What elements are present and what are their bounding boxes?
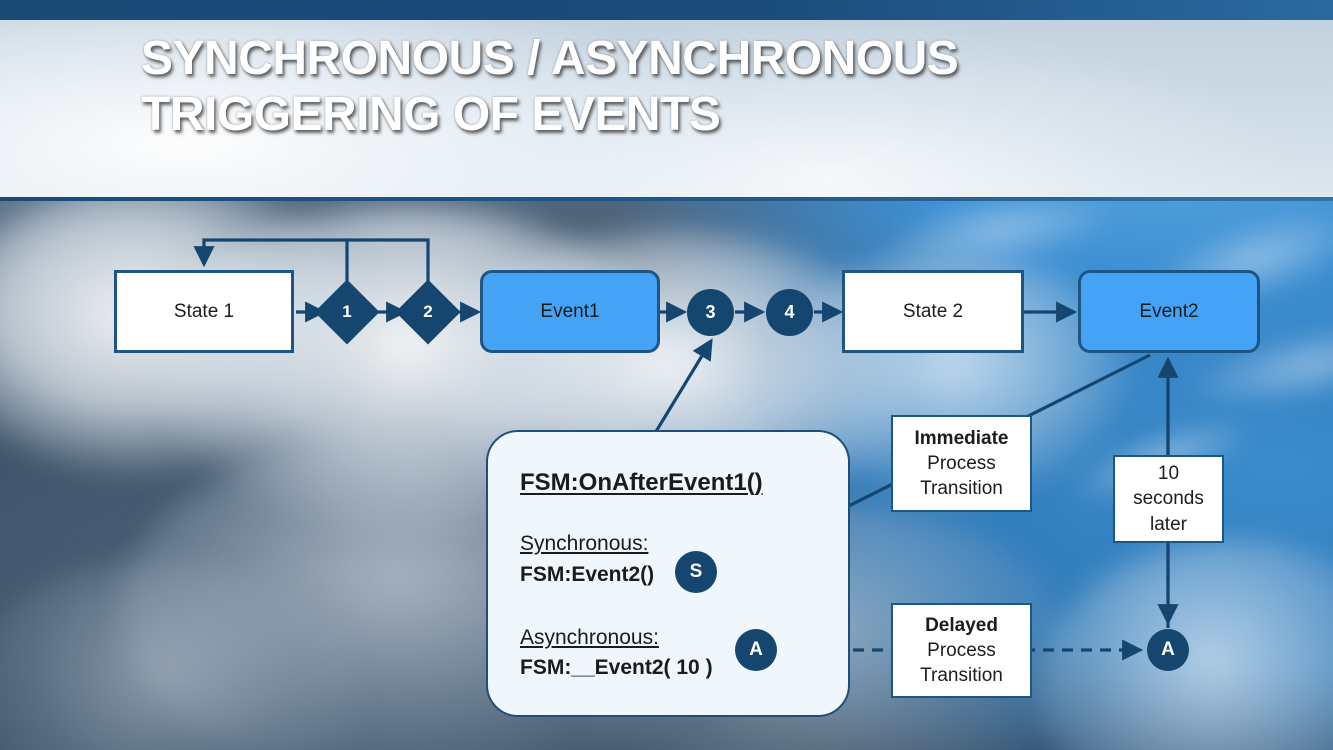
node-step-1[interactable]: 1 <box>314 279 379 344</box>
note-immediate-process-transition[interactable]: Immediate Process Transition <box>891 415 1032 512</box>
top-accent-band <box>0 0 1333 20</box>
node-label: 1 <box>324 289 370 335</box>
marker-label: A <box>1161 639 1175 661</box>
slide-canvas: SYNCHRONOUS / ASYNCHRONOUS TRIGGERING OF… <box>0 0 1333 750</box>
node-label: 2 <box>405 289 451 335</box>
note-line: 10 <box>1158 461 1179 486</box>
callout-async-code: FSM:__Event2( 10 ) <box>520 656 713 680</box>
note-line: Transition <box>920 476 1003 501</box>
marker-label: A <box>749 639 763 661</box>
node-label: Event2 <box>1139 301 1198 323</box>
callout-header: FSM:OnAfterEvent1() <box>520 469 763 497</box>
node-step-4[interactable]: 4 <box>766 289 813 336</box>
marker-sync-s[interactable]: S <box>675 551 717 593</box>
title-line-1: SYNCHRONOUS / ASYNCHRONOUS <box>141 31 1141 87</box>
note-line: Delayed <box>925 613 998 638</box>
note-line: Process <box>927 638 996 663</box>
node-step-2[interactable]: 2 <box>395 279 460 344</box>
node-label: 4 <box>784 302 794 323</box>
note-line: Process <box>927 451 996 476</box>
node-state-1[interactable]: State 1 <box>114 270 294 353</box>
bottom-accent-band <box>0 197 1333 201</box>
note-timer-10-seconds-later[interactable]: 10 seconds later <box>1113 455 1224 543</box>
node-label: Event1 <box>540 301 599 323</box>
callout-async-label: Asynchronous: <box>520 626 659 650</box>
note-line: Immediate <box>915 426 1009 451</box>
note-delayed-process-transition[interactable]: Delayed Process Transition <box>891 603 1032 698</box>
marker-label: S <box>690 561 703 583</box>
node-event-1[interactable]: Event1 <box>480 270 660 353</box>
note-line: later <box>1150 512 1187 537</box>
node-label: State 1 <box>174 301 234 323</box>
callout-fsm-onafterevent1[interactable]: FSM:OnAfterEvent1() Synchronous: FSM:Eve… <box>486 430 850 717</box>
page-title: SYNCHRONOUS / ASYNCHRONOUS TRIGGERING OF… <box>141 31 1141 143</box>
node-step-3[interactable]: 3 <box>687 289 734 336</box>
node-label: State 2 <box>903 301 963 323</box>
title-line-2: TRIGGERING OF EVENTS <box>141 87 1141 143</box>
marker-async-a[interactable]: A <box>735 629 777 671</box>
marker-async-target-a[interactable]: A <box>1147 629 1189 671</box>
note-line: seconds <box>1133 486 1204 511</box>
callout-sync-code: FSM:Event2() <box>520 563 654 587</box>
node-state-2[interactable]: State 2 <box>842 270 1024 353</box>
node-event-2[interactable]: Event2 <box>1078 270 1260 353</box>
callout-sync-label: Synchronous: <box>520 532 648 556</box>
note-line: Transition <box>920 663 1003 688</box>
node-label: 3 <box>705 302 715 323</box>
